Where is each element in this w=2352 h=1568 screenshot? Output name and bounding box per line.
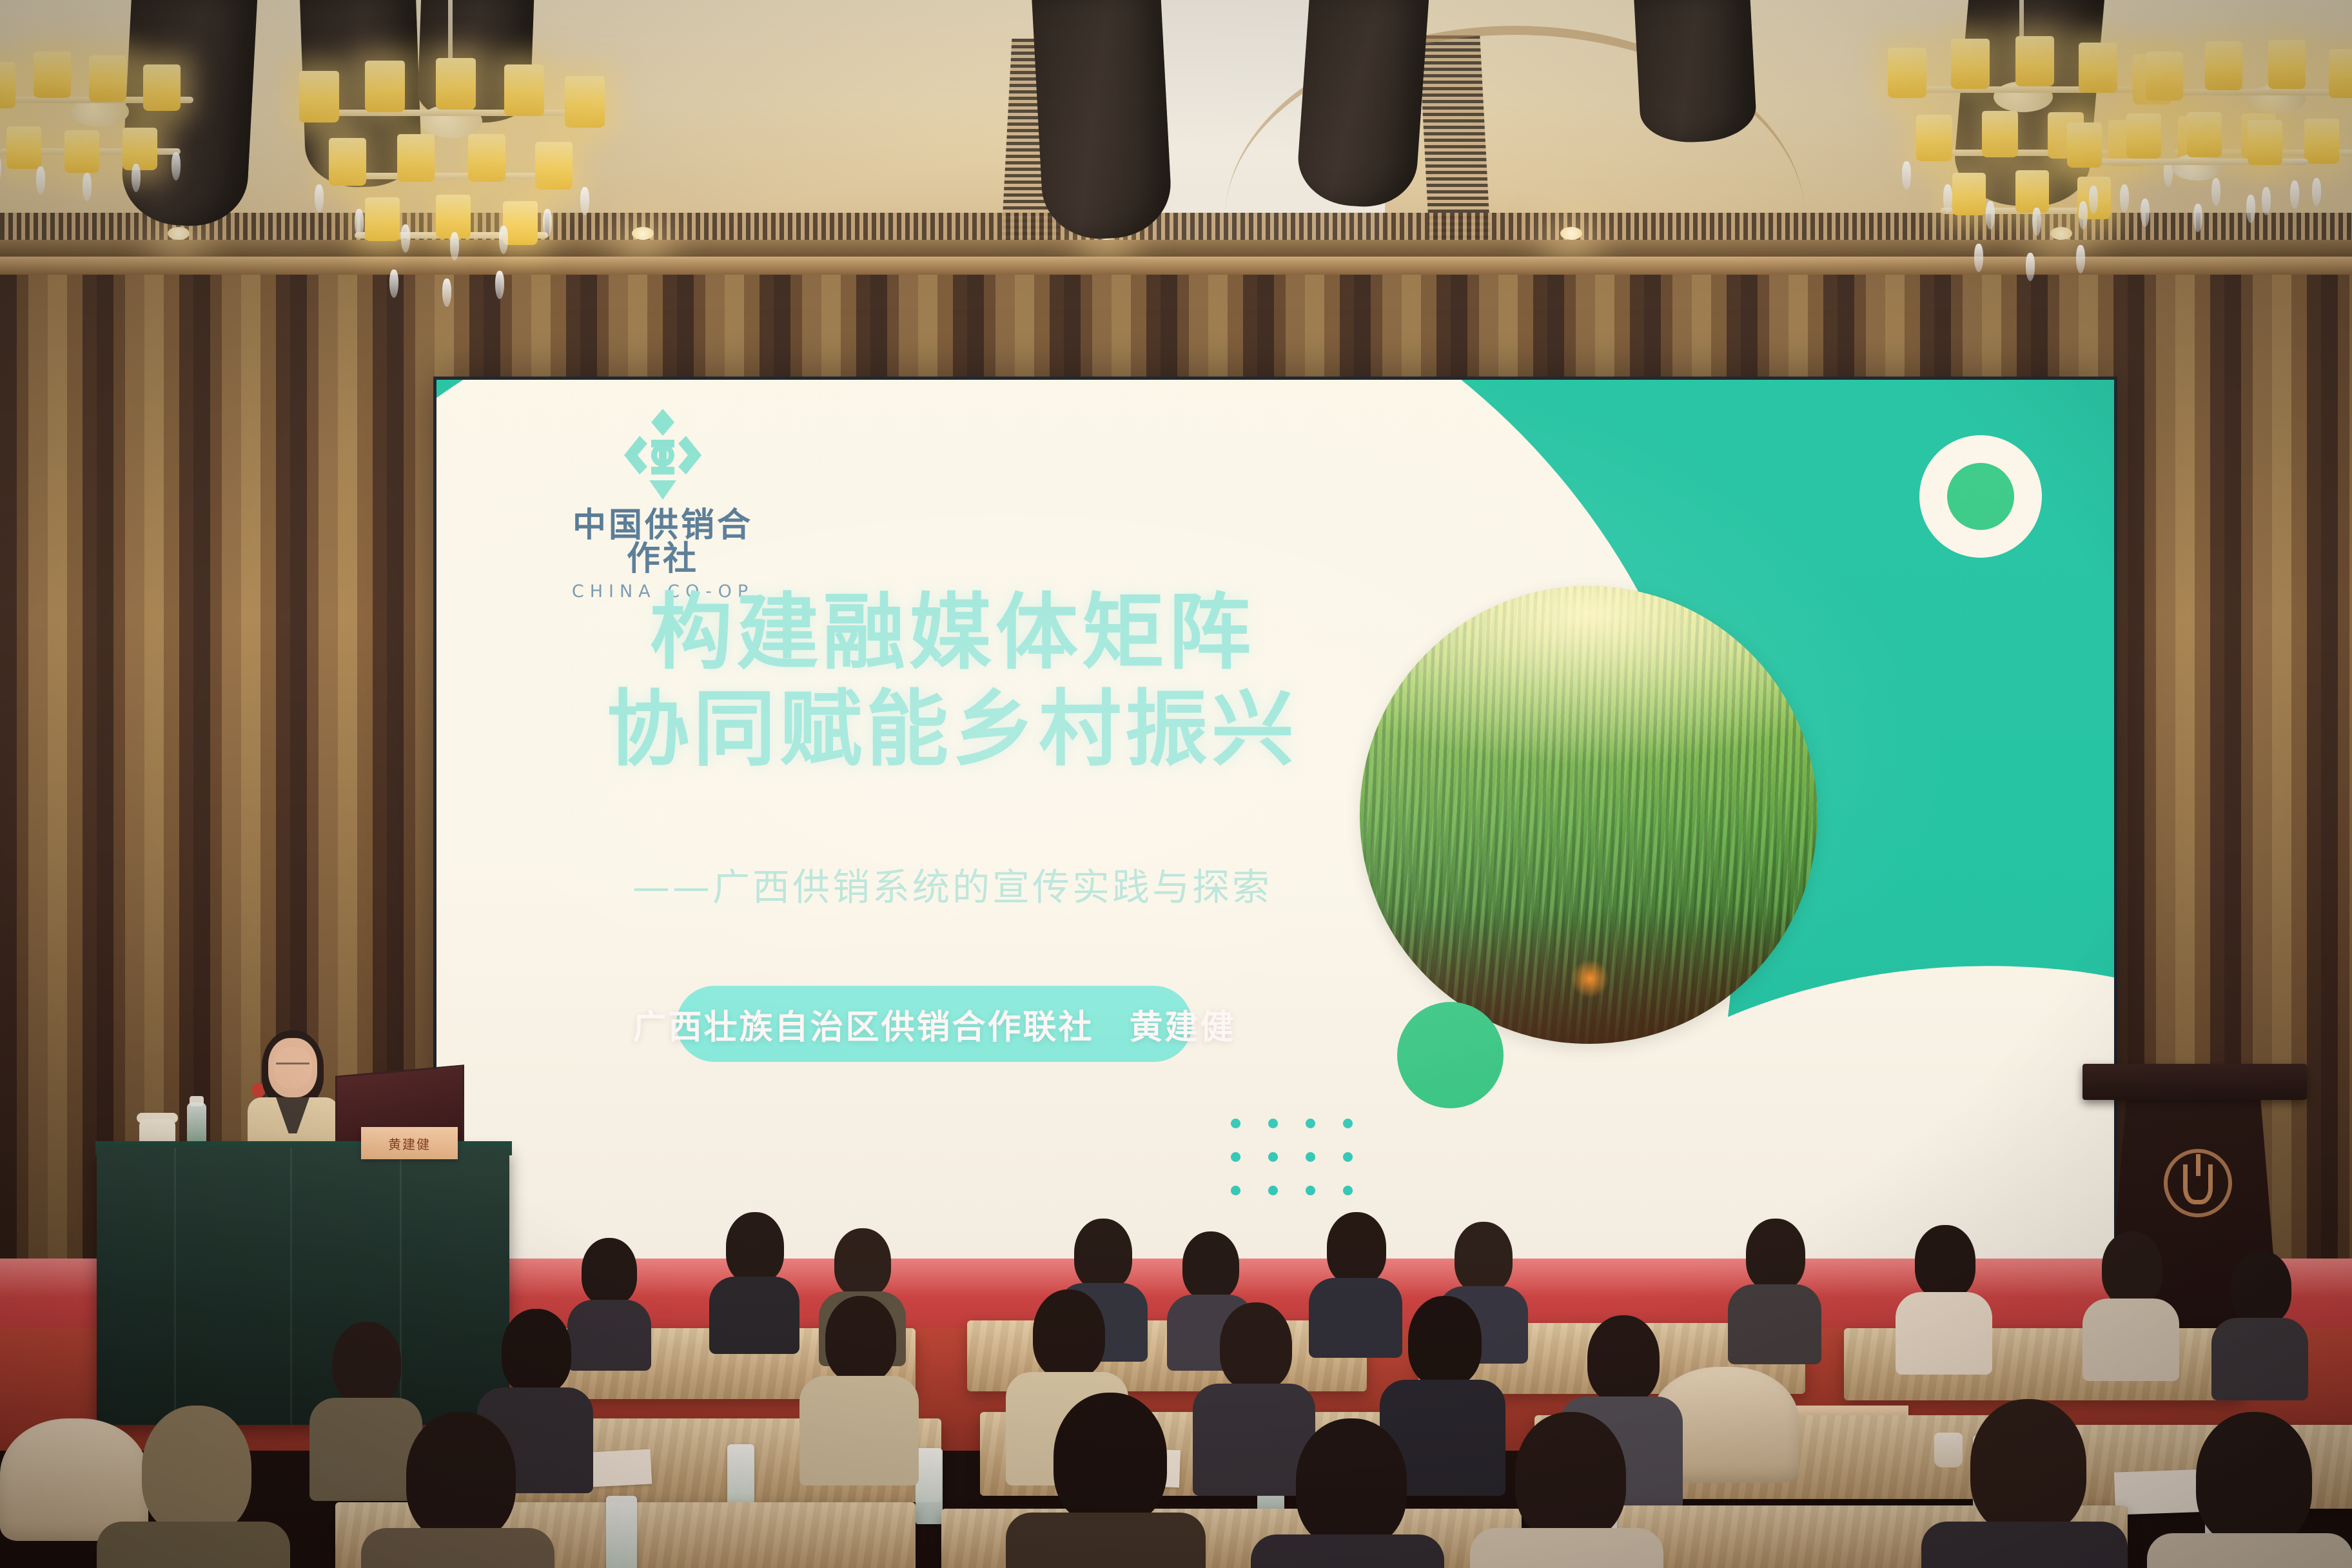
china-coop-diamond-emblem-icon bbox=[614, 407, 711, 504]
audience-member bbox=[1728, 1219, 1821, 1351]
dot-grid-decoration bbox=[1231, 1119, 1380, 1219]
grid-dot bbox=[1231, 1186, 1240, 1195]
ceiling-spotlight bbox=[1560, 227, 1582, 240]
ceiling-speaker bbox=[1032, 0, 1173, 242]
grid-dot bbox=[1306, 1186, 1315, 1195]
grid-dot bbox=[1268, 1186, 1278, 1195]
podium-top-surface bbox=[2082, 1064, 2307, 1100]
audience-member bbox=[1896, 1225, 1992, 1360]
projection-screen: 中国供销合作社 CHINA CO-OP 构建融媒体矩阵 协同赋能乡村振兴 ——广… bbox=[433, 377, 2117, 1266]
grid-dot bbox=[1231, 1152, 1240, 1162]
grid-dot bbox=[1343, 1152, 1353, 1162]
chandelier bbox=[2050, 77, 2334, 297]
audience-member bbox=[1470, 1412, 1663, 1568]
ceiling-spotlight bbox=[168, 227, 190, 240]
speaker-nameplate: 黄建健 bbox=[361, 1127, 458, 1159]
chandelier bbox=[0, 0, 219, 219]
audience-member bbox=[361, 1412, 554, 1568]
small-green-circle-decoration bbox=[1397, 1002, 1504, 1108]
audience-member bbox=[799, 1296, 919, 1476]
lens-flare bbox=[1571, 959, 1609, 998]
grid-dot bbox=[1306, 1119, 1315, 1128]
corn-field-photo bbox=[1360, 586, 1818, 1044]
grid-dot bbox=[1343, 1119, 1353, 1128]
donut-decoration bbox=[1919, 435, 2042, 558]
audience-member bbox=[1921, 1399, 2128, 1568]
grid-dot bbox=[1231, 1119, 1240, 1128]
grid-dot bbox=[1268, 1152, 1278, 1162]
podium-emblem-stem-icon bbox=[2196, 1154, 2200, 1176]
presenter-affiliation-and-name: 广西壮族自治区供销合作联社 黄建健 bbox=[633, 1000, 1236, 1048]
grid-dot bbox=[1306, 1152, 1315, 1162]
slide-title: 构建融媒体矩阵 协同赋能乡村振兴 bbox=[533, 585, 1371, 778]
logo-chinese-name: 中国供销合作社 bbox=[556, 509, 769, 576]
grid-dot bbox=[1343, 1186, 1353, 1195]
audience-member bbox=[1006, 1393, 1206, 1568]
presentation-slide: 中国供销合作社 CHINA CO-OP 构建融媒体矩阵 协同赋能乡村振兴 ——广… bbox=[436, 380, 2114, 1263]
grid-dot bbox=[1268, 1119, 1278, 1128]
conference-photo-scene: 中国供销合作社 CHINA CO-OP 构建融媒体矩阵 协同赋能乡村振兴 ——广… bbox=[0, 0, 2352, 1568]
chandelier bbox=[251, 0, 651, 387]
china-coop-logo: 中国供销合作社 CHINA CO-OP bbox=[556, 407, 769, 602]
audience-member bbox=[709, 1212, 799, 1341]
presenter-pill: 广西壮族自治区供销合作联社 黄建健 bbox=[676, 986, 1192, 1062]
audience-member bbox=[2147, 1412, 2352, 1568]
audience-member bbox=[2211, 1251, 2308, 1386]
ceiling-speaker bbox=[1634, 0, 1758, 145]
donut-core bbox=[1947, 463, 2014, 530]
slide-title-line-2: 协同赋能乡村振兴 bbox=[533, 681, 1371, 778]
water-bottle bbox=[606, 1496, 637, 1568]
ceiling-speaker bbox=[1295, 0, 1429, 210]
audience-member bbox=[2082, 1231, 2179, 1367]
audience-member bbox=[97, 1406, 290, 1568]
audience-member bbox=[1251, 1418, 1444, 1568]
head-table-skirt bbox=[97, 1148, 509, 1425]
slide-subtitle: ——广西供销系统的宣传实践与探索 bbox=[533, 857, 1371, 911]
water-bottle bbox=[916, 1448, 943, 1524]
presenter-glasses bbox=[276, 1063, 309, 1070]
slide-title-line-1: 构建融媒体矩阵 bbox=[533, 585, 1371, 681]
